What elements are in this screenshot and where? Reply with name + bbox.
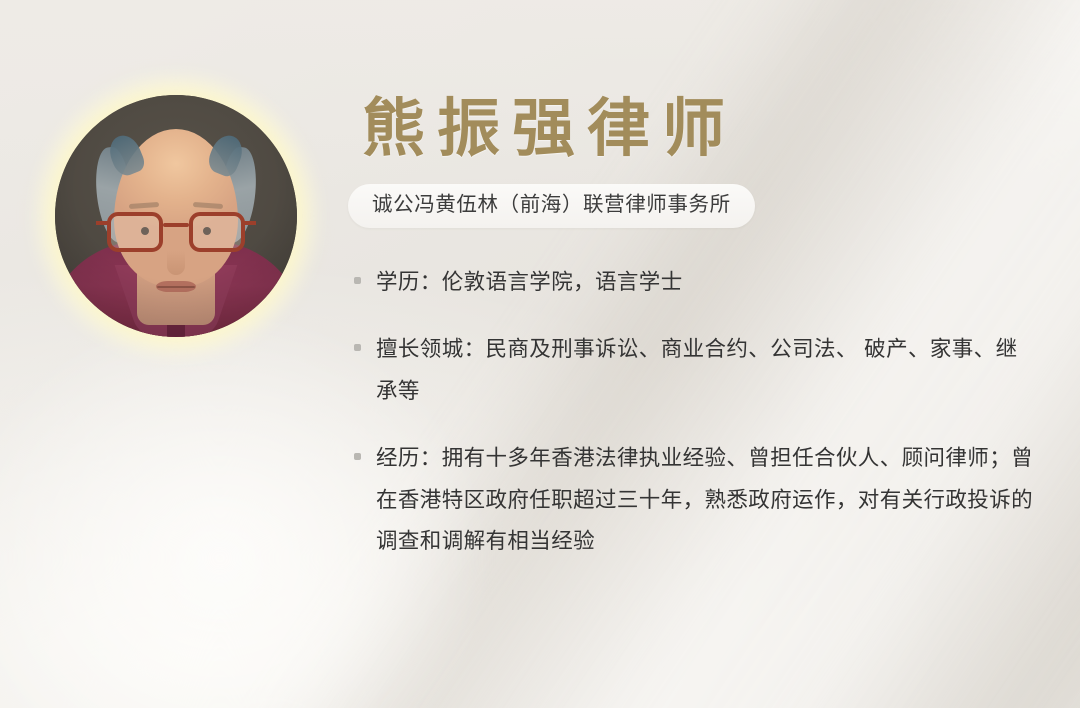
avatar [55,95,297,337]
list-item: 学历：伦敦语言学院，语言学士 [348,262,1036,303]
list-item: 擅长领城：民商及刑事诉讼、商业合约、公司法、 破产、家事、继承等 [348,329,1036,412]
lawyer-profile-card: 熊振强律师 诚公冯黄伍林（前海）联营律师事务所 学历：伦敦语言学院，语言学士 擅… [0,0,1080,708]
page-title: 熊振强律师 [362,96,1048,162]
square-bullet-icon [354,344,361,351]
credentials-list: 学历：伦敦语言学院，语言学士 擅长领城：民商及刑事诉讼、商业合约、公司法、 破产… [348,262,1048,563]
list-item-text: 擅长领城：民商及刑事诉讼、商业合约、公司法、 破产、家事、继承等 [376,329,1036,412]
firm-name-badge: 诚公冯黄伍林（前海）联营律师事务所 [348,184,755,228]
profile-content: 熊振强律师 诚公冯黄伍林（前海）联营律师事务所 学历：伦敦语言学院，语言学士 擅… [348,96,1048,563]
avatar-photo-icon [55,95,297,337]
list-item-text: 学历：伦敦语言学院，语言学士 [376,262,1036,303]
list-item: 经历：拥有十多年香港法律执业经验、曾担任合伙人、顾问律师；曾在香港特区政府任职超… [348,438,1036,562]
square-bullet-icon [354,277,361,284]
square-bullet-icon [354,453,361,460]
list-item-text: 经历：拥有十多年香港法律执业经验、曾担任合伙人、顾问律师；曾在香港特区政府任职超… [376,438,1036,562]
